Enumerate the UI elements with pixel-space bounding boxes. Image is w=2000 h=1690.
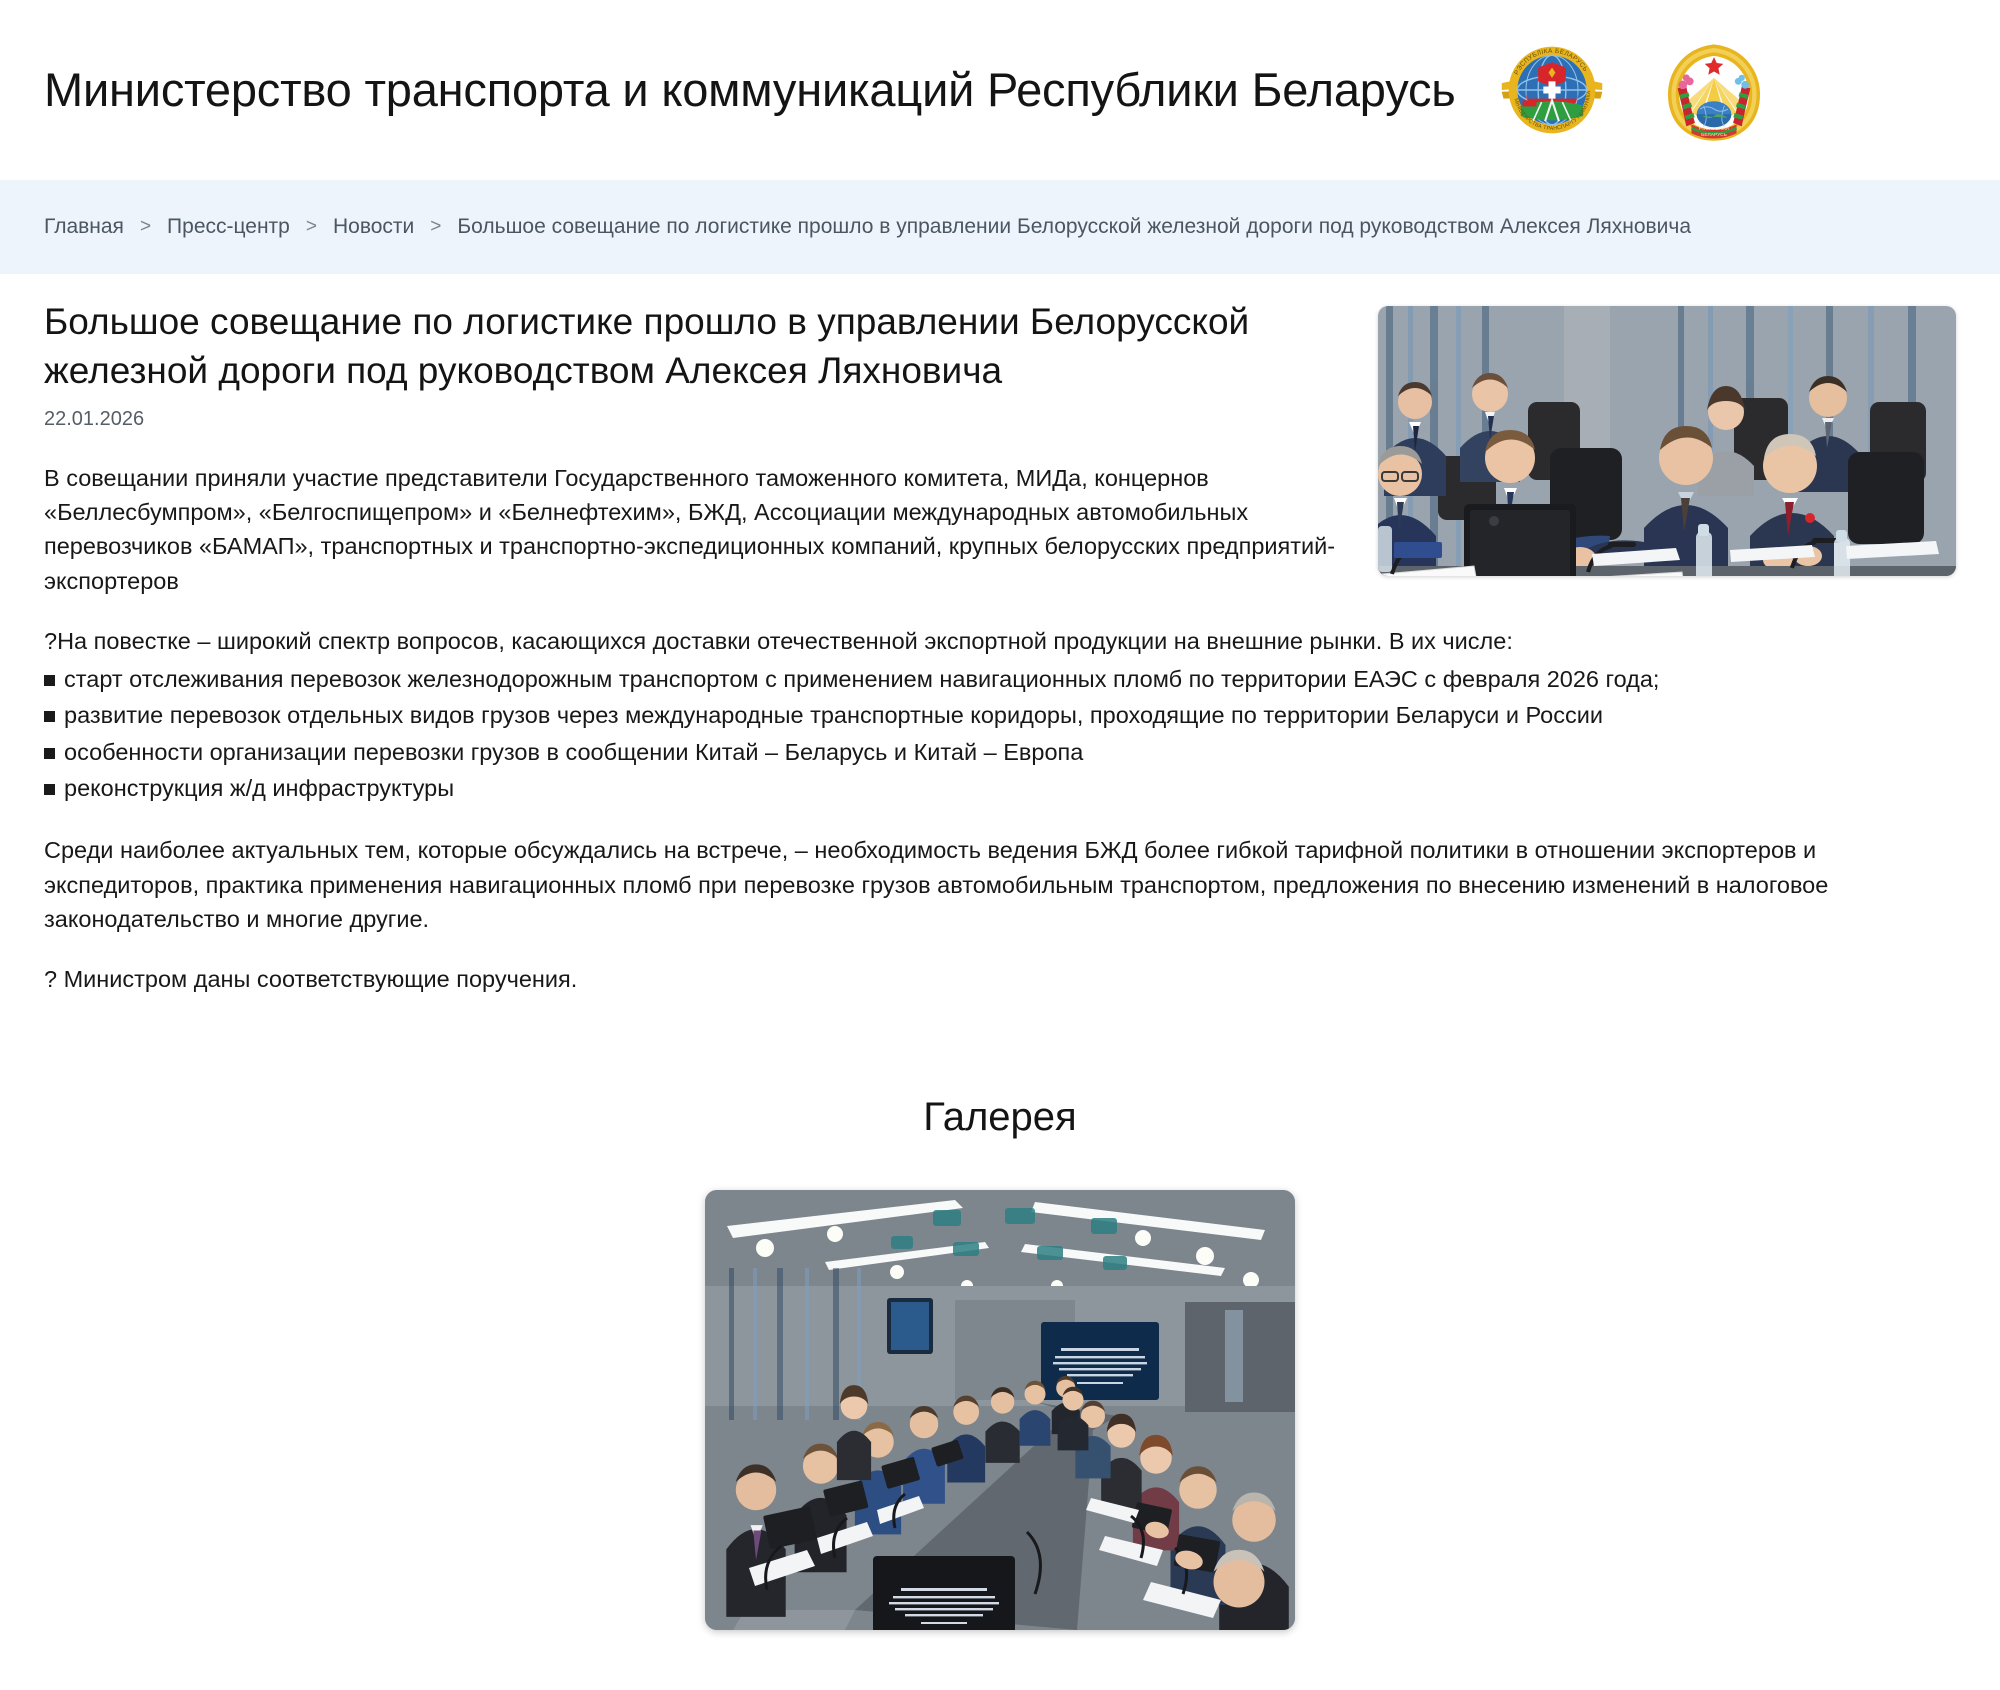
breadcrumb-item-news[interactable]: Новости xyxy=(333,215,414,239)
list-item-label: реконструкция ж/д инфраструктуры xyxy=(64,775,454,801)
list-item-label: старт отслеживания перевозок железнодоро… xyxy=(64,666,1659,692)
gallery-title: Галерея xyxy=(44,1095,1956,1140)
breadcrumb: Главная > Пресс-центр > Новости > Большо… xyxy=(44,215,1691,239)
meeting-officials-photo[interactable]: ЛУЦКЕВІЧ ЛЯХНОВІЧ ГЛУШКО xyxy=(1378,306,1956,576)
article-agenda-intro: ?На повестке – широкий спектр вопросов, … xyxy=(44,624,1956,658)
bullet-square-icon xyxy=(44,748,55,759)
breadcrumb-separator-icon: > xyxy=(414,216,457,238)
breadcrumb-item-press-center[interactable]: Пресс-центр xyxy=(167,215,290,239)
site-header: Министерство транспорта и коммуникаций Р… xyxy=(0,0,2000,180)
article-closing-paragraph: ? Министром даны соответствующие поручен… xyxy=(44,962,1956,996)
bullet-square-icon xyxy=(44,711,55,722)
list-item-label: развитие перевозок отдельных видов грузо… xyxy=(64,702,1603,728)
gallery-section: Галерея xyxy=(44,1095,1956,1690)
breadcrumb-separator-icon: > xyxy=(124,216,167,238)
belarus-coat-of-arms-icon: РЭСПУБЛІКА БЕЛАРУСЬ xyxy=(1662,38,1766,142)
article-summary-paragraph: Среди наиболее актуальных тем, которые о… xyxy=(44,833,1956,936)
article-photo[interactable]: ЛУЦКЕВІЧ ЛЯХНОВІЧ ГЛУШКО xyxy=(1378,306,1956,576)
bullet-square-icon xyxy=(44,675,55,686)
list-item-label: особенности организации перевозки грузов… xyxy=(64,739,1083,765)
page-title: Большое совещание по логистике прошло в … xyxy=(44,298,1344,396)
breadcrumb-separator-icon: > xyxy=(290,216,333,238)
breadcrumb-item-home[interactable]: Главная xyxy=(44,215,124,239)
list-item: реконструкция ж/д инфраструктуры xyxy=(44,771,1956,805)
list-item: старт отслеживания перевозок железнодоро… xyxy=(44,662,1956,696)
site-title: Министерство транспорта и коммуникаций Р… xyxy=(44,64,1456,116)
breadcrumb-bar: Главная > Пресс-центр > Новости > Большо… xyxy=(0,180,2000,274)
header-emblems: РЭСПУБЛІКА БЕЛАРУСЬ МІНІСТЭРСТВА ТРАНСПА… xyxy=(1500,38,1766,142)
list-item: особенности организации перевозки грузов… xyxy=(44,735,1956,769)
breadcrumb-item-current: Большое совещание по логистике прошло в … xyxy=(457,215,1691,239)
svg-text:БЕЛАРУСЬ: БЕЛАРУСЬ xyxy=(1701,132,1727,138)
gallery-meeting-room-photo[interactable] xyxy=(705,1190,1295,1630)
ministry-emblem-icon: РЭСПУБЛІКА БЕЛАРУСЬ МІНІСТЭРСТВА ТРАНСПА… xyxy=(1500,38,1604,142)
svg-text:РЭСПУБЛІКА: РЭСПУБЛІКА xyxy=(1698,126,1729,132)
agenda-bullet-list: старт отслеживания перевозок железнодоро… xyxy=(44,662,1956,805)
main-content: ЛУЦКЕВІЧ ЛЯХНОВІЧ ГЛУШКО xyxy=(0,274,2000,1690)
list-item: развитие перевозок отдельных видов грузо… xyxy=(44,698,1956,732)
bullet-square-icon xyxy=(44,784,55,795)
news-article: ЛУЦКЕВІЧ ЛЯХНОВІЧ ГЛУШКО xyxy=(44,274,1956,1023)
